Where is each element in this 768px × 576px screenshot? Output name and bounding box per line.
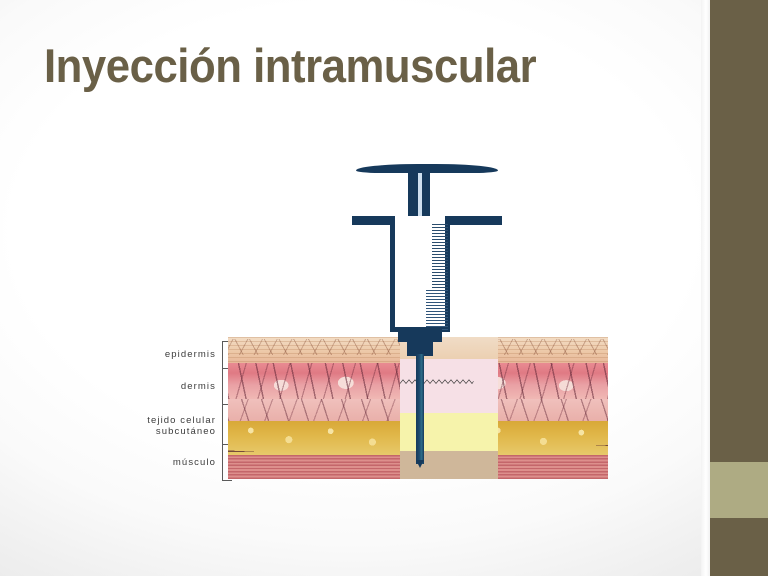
label-epidermis: epidermis <box>165 349 216 360</box>
page-title: Inyección intramuscular <box>44 40 536 92</box>
right-accent-bar <box>710 0 768 576</box>
label-dermis: dermis <box>181 381 216 392</box>
syringe-needle <box>416 354 424 464</box>
slide-canvas: Inyección intramuscular epidermis dermis… <box>0 0 768 576</box>
right-bar-segment-dark-top <box>710 0 768 462</box>
syringe-graduation-marks-lower <box>426 290 448 332</box>
label-musculo: músculo <box>173 457 216 468</box>
syringe <box>352 160 502 480</box>
right-bar-segment-dark-bottom <box>710 518 768 576</box>
right-bar-segment-light <box>710 462 768 518</box>
label-tcs-line1: tejido celular <box>147 415 216 426</box>
figure-intramuscular-injection: epidermis dermis tejido celular subcután… <box>78 337 608 517</box>
label-tcs-line2: subcutáneo <box>147 426 216 437</box>
right-bar-edge-highlight <box>701 0 710 576</box>
label-tejido-celular-subcutaneo: tejido celular subcutáneo <box>147 415 216 437</box>
syringe-needle-tip <box>416 460 424 468</box>
layer-labels: epidermis dermis tejido celular subcután… <box>78 337 220 479</box>
